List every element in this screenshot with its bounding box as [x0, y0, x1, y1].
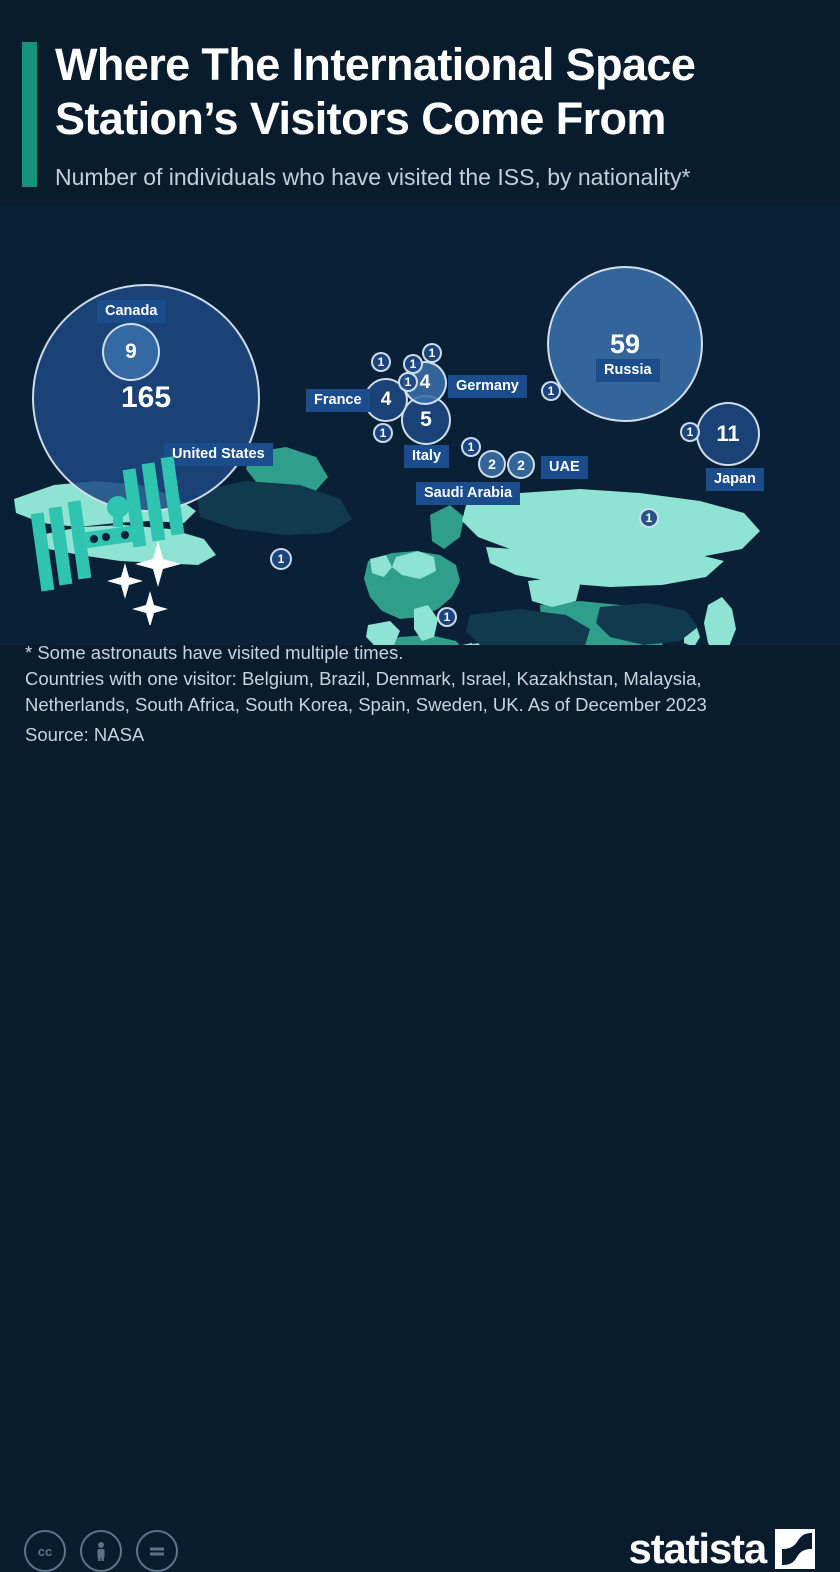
bubble-value-russia: 59 [610, 329, 640, 360]
footer: cc statista [0, 760, 840, 840]
country-label-japan: Japan [706, 468, 764, 491]
sparkle-icons [107, 541, 181, 625]
bubble-value-israel: 1 [468, 440, 475, 454]
svg-text:cc: cc [38, 1544, 52, 1559]
bubble-denmark[interactable]: 1 [422, 343, 442, 363]
bubble-value-netherlands: 1 [410, 357, 417, 371]
bubble-netherlands[interactable]: 1 [403, 354, 423, 374]
bubble-spain[interactable]: 1 [373, 423, 393, 443]
bubble-value-belgium: 1 [405, 375, 412, 389]
bubble-value-brazil: 1 [278, 552, 285, 566]
bubble-value-spain: 1 [380, 426, 387, 440]
bubble-israel[interactable]: 1 [461, 437, 481, 457]
statista-logo: statista [629, 1528, 815, 1570]
bubble-value-malaysia: 1 [646, 511, 653, 525]
footnote-line-3: Netherlands, South Africa, South Korea, … [25, 692, 825, 718]
bubble-japan[interactable]: 11 [696, 402, 760, 466]
cc-icon[interactable]: cc [24, 1530, 66, 1572]
footnotes: * Some astronauts have visited multiple … [25, 640, 825, 748]
bubble-value-japan: 11 [716, 421, 739, 447]
bubble-value-france: 4 [381, 389, 392, 411]
bubble-brazil[interactable]: 1 [270, 548, 292, 570]
bubble-belgium[interactable]: 1 [398, 372, 418, 392]
cc-by-person-icon[interactable] [80, 1530, 122, 1572]
footnote-line-2: Countries with one visitor: Belgium, Bra… [25, 666, 825, 692]
bubble-russia[interactable]: 59 [547, 266, 703, 422]
bubble-uae[interactable]: 2 [507, 451, 535, 479]
header: Where The International Space Station’s … [0, 0, 840, 210]
bubble-saudi-arabia[interactable]: 2 [478, 450, 506, 478]
page-title: Where The International Space Station’s … [55, 38, 835, 146]
statista-wordmark: statista [629, 1528, 766, 1570]
bubble-value-united-kingdom: 1 [378, 355, 385, 369]
bubble-canada[interactable]: 9 [102, 323, 160, 381]
country-label-saudi-arabia: Saudi Arabia [416, 482, 520, 505]
bubble-value-uae: 2 [517, 457, 525, 473]
country-label-canada: Canada [97, 300, 165, 323]
country-label-germany: Germany [448, 375, 527, 398]
country-label-russia: Russia [596, 359, 660, 382]
country-label-uae: UAE [541, 456, 588, 479]
country-label-italy: Italy [404, 445, 449, 468]
bubble-malaysia[interactable]: 1 [639, 508, 659, 528]
cc-nd-equals-icon[interactable] [136, 1530, 178, 1572]
statista-mark-icon [775, 1529, 815, 1569]
bubble-south-korea[interactable]: 1 [680, 422, 700, 442]
infographic-root: Where The International Space Station’s … [0, 0, 840, 840]
bubble-kazakhstan[interactable]: 1 [541, 381, 561, 401]
bubble-value-canada: 9 [125, 340, 137, 364]
bubble-value-denmark: 1 [429, 346, 436, 360]
bubble-value-south-korea: 1 [687, 425, 694, 439]
footnote-line-1: * Some astronauts have visited multiple … [25, 640, 825, 666]
page-subtitle: Number of individuals who have visited t… [55, 163, 840, 191]
iss-illustration [30, 455, 210, 625]
bubble-value-germany: 4 [420, 372, 431, 394]
country-label-france: France [306, 389, 370, 412]
bubble-united-kingdom[interactable]: 1 [371, 352, 391, 372]
bubble-south-africa[interactable]: 1 [437, 607, 457, 627]
bubble-value-italy: 5 [420, 408, 432, 432]
bubble-value-kazakhstan: 1 [548, 384, 555, 398]
bubble-value-saudi-arabia: 2 [488, 456, 496, 472]
source-line: Source: NASA [25, 722, 825, 748]
bubble-value-united-states: 165 [121, 381, 171, 415]
bubble-value-south-africa: 1 [444, 610, 451, 624]
accent-bar [22, 42, 37, 187]
creative-commons-badges: cc [24, 1530, 178, 1572]
